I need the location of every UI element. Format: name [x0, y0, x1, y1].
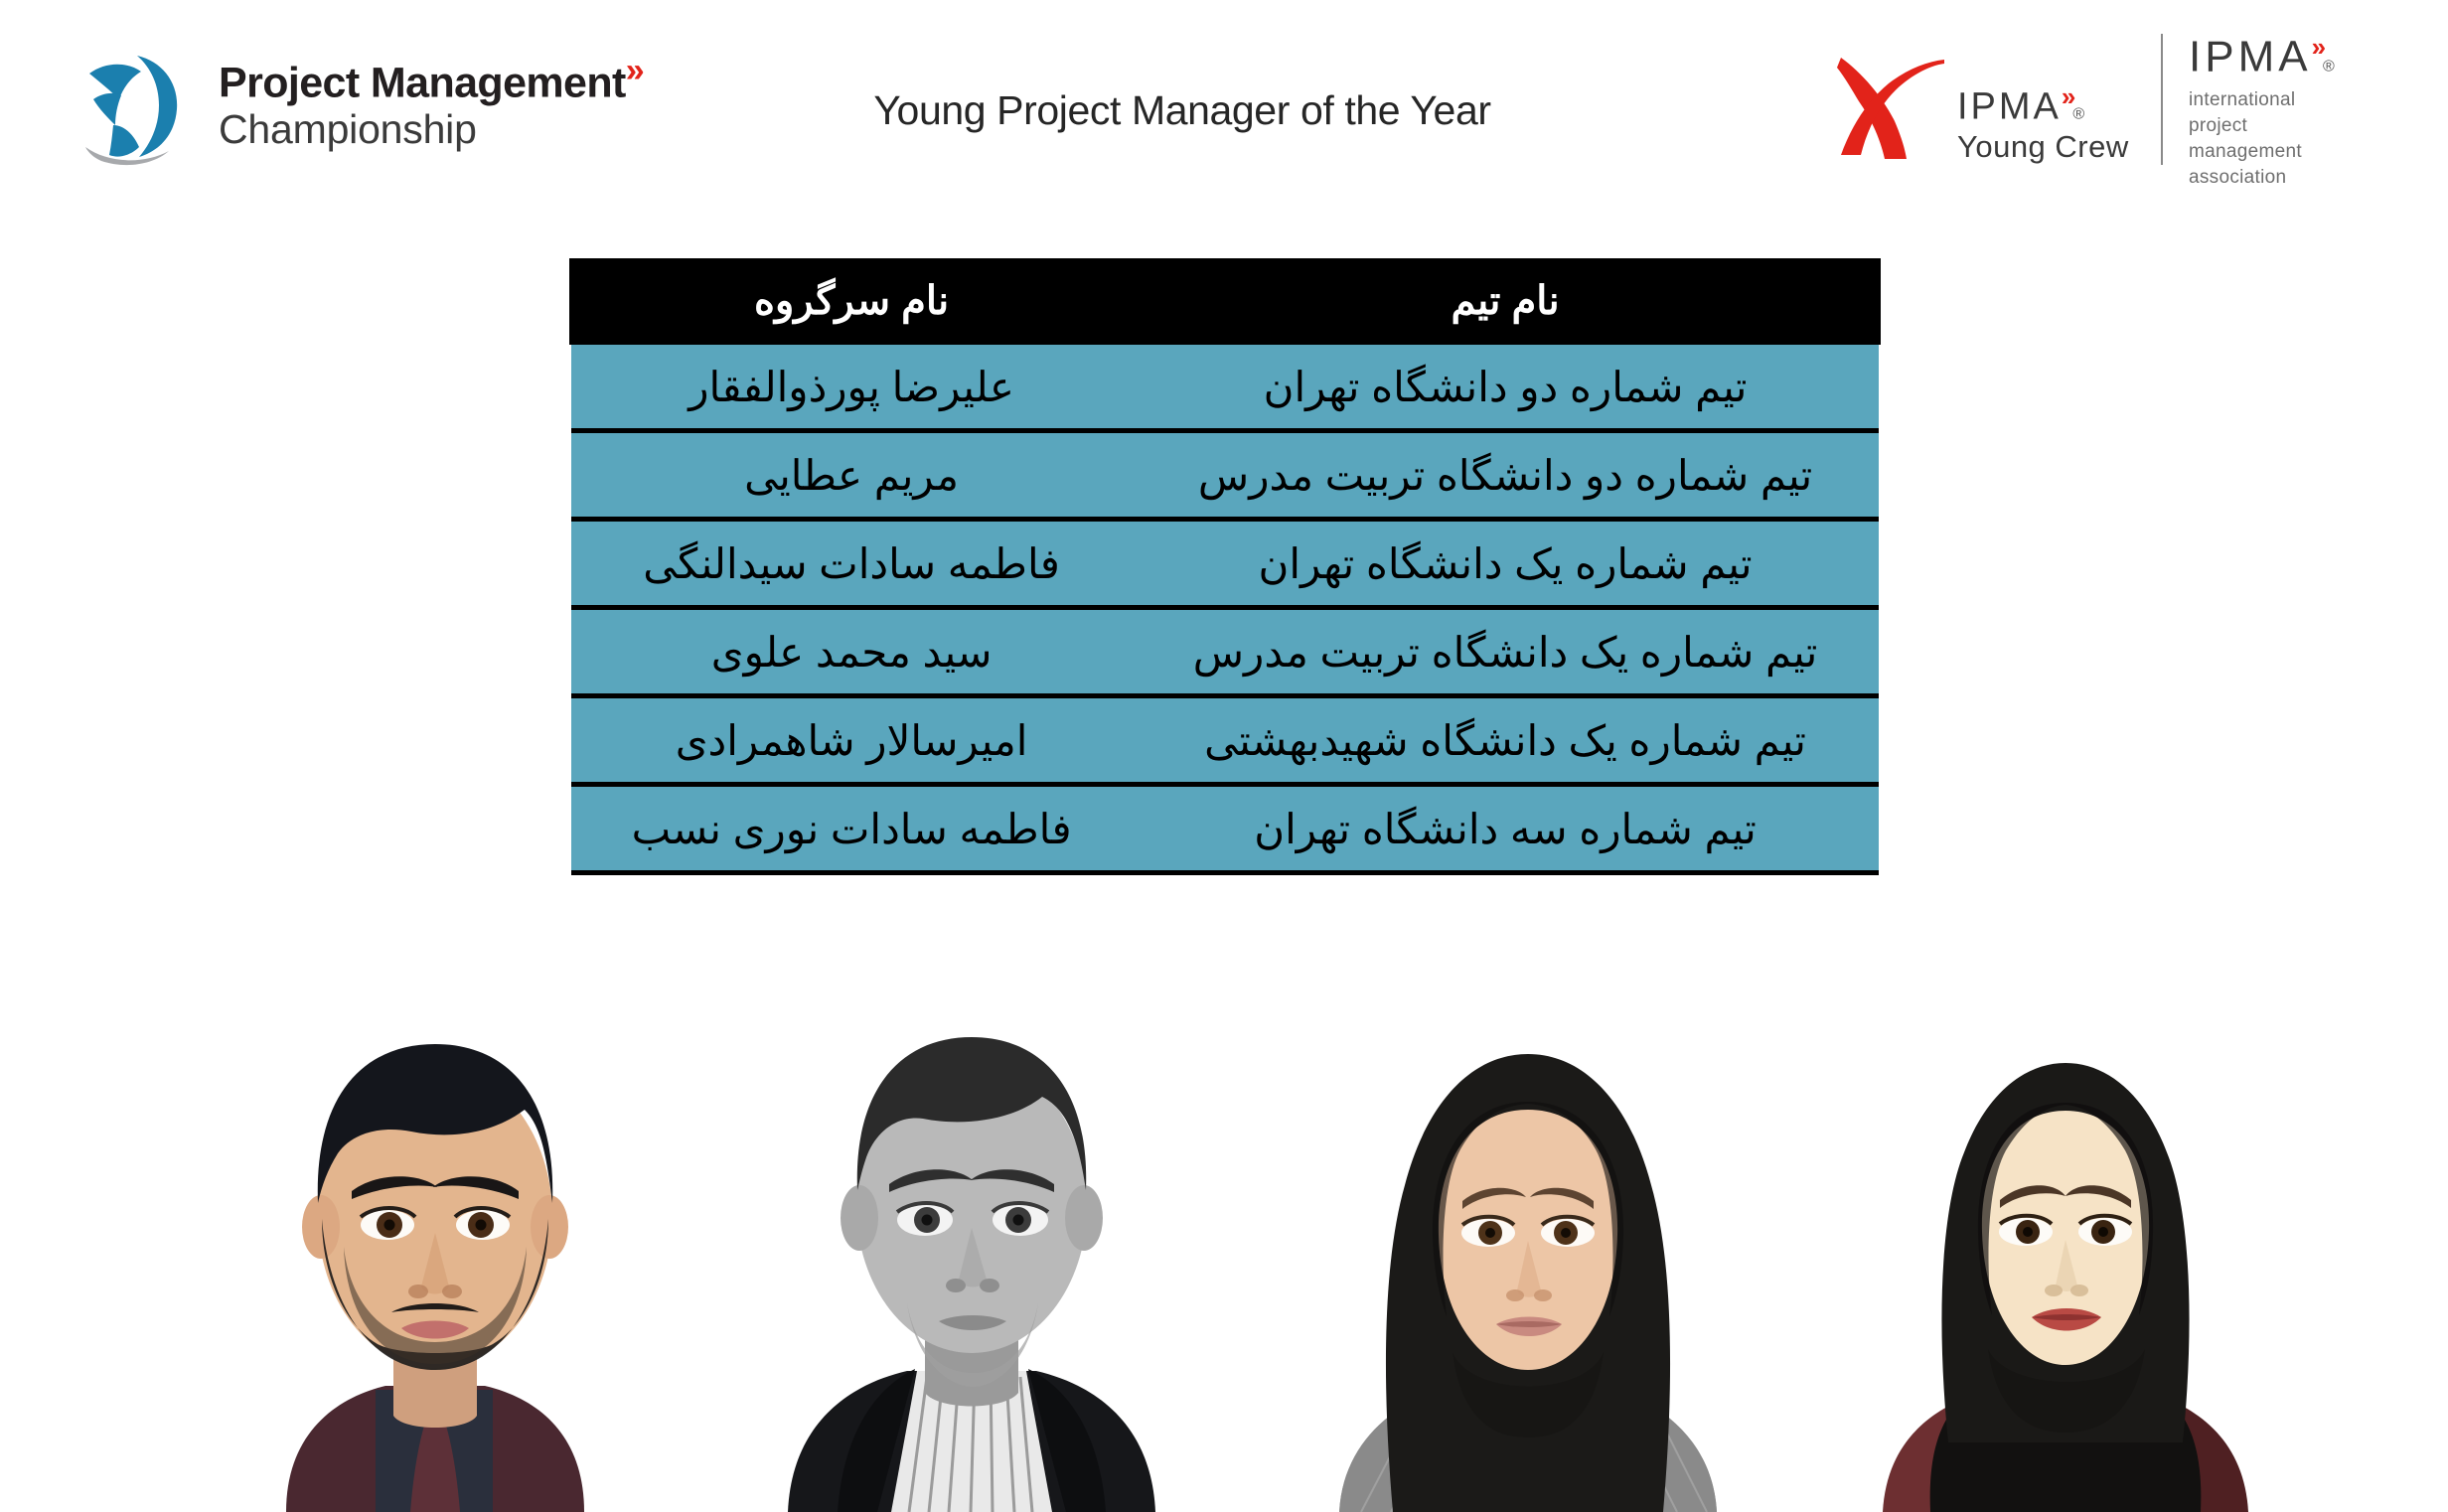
- ipma-young-crew-x-icon: [1833, 44, 1952, 163]
- ipma-tagline: international project management associa…: [2189, 87, 2407, 192]
- table-row: تیم شماره دو دانشگاه تربیت مدرسمریم عطای…: [571, 431, 1879, 520]
- pmc-wordmark: Project Management» Championship: [219, 54, 656, 151]
- cell-leader: مریم عطایی: [571, 431, 1132, 520]
- table-row: تیم شماره سه دانشگاه تهرانفاطمه سادات نو…: [571, 785, 1879, 873]
- ipma-main-wordmark: IPMA»® international project management …: [2189, 34, 2407, 192]
- portrait-3-image: [1321, 971, 1734, 1512]
- table-row: تیم شماره یک دانشگاه تهرانفاطمه سادات سی…: [571, 520, 1879, 608]
- portrait-4-image: [1861, 976, 2270, 1512]
- registered-mark-icon: ®: [2323, 59, 2335, 76]
- ipma-word-main: IPMA»®: [2189, 34, 2407, 79]
- ipma-chevron-icon: »: [2312, 32, 2323, 62]
- page-title: Young Project Manager of the Year: [815, 87, 1550, 134]
- ipma-tagline-line: project: [2189, 113, 2407, 139]
- cell-leader: امیرسالار شاهمرادی: [571, 696, 1132, 785]
- cell-leader: علیرضا پورذوالفقار: [571, 343, 1132, 431]
- column-header-leader-name: نام سرگروه: [571, 260, 1132, 343]
- cell-team: تیم شماره دو دانشگاه تربیت مدرس: [1132, 431, 1879, 520]
- cell-team: تیم شماره دو دانشگاه تهران: [1132, 343, 1879, 431]
- cell-team: تیم شماره یک دانشگاه تهران: [1132, 520, 1879, 608]
- portrait-1: [227, 949, 644, 1512]
- pmc-chevron-icon: »: [626, 52, 641, 89]
- cell-leader: سید محمد علوی: [571, 608, 1132, 696]
- ipma-logo-group: IPMA»® Young Crew IPMA»® international p…: [1833, 26, 2389, 175]
- table-header: نام تیم نام سرگروه: [571, 260, 1879, 343]
- ipma-word-young-crew: IPMA»®: [1957, 83, 2146, 126]
- portrait-1-image: [227, 949, 644, 1512]
- pmc-line-1: Project Management»: [219, 54, 656, 105]
- portrait-3: [1321, 971, 1734, 1512]
- portraits-row: [0, 949, 2448, 1512]
- portrait-2-image: [768, 976, 1175, 1512]
- table-header-row: نام تیم نام سرگروه: [571, 260, 1879, 343]
- table-row: تیم شماره یک دانشگاه تربیت مدرسسید محمد …: [571, 608, 1879, 696]
- cell-leader: فاطمه سادات نوری نسب: [571, 785, 1132, 873]
- pmc-bird-mark: [68, 48, 203, 167]
- ipma-tagline-line: international: [2189, 87, 2407, 113]
- cell-leader: فاطمه سادات سیدالنگی: [571, 520, 1132, 608]
- teams-table: نام تیم نام سرگروه تیم شماره دو دانشگاه …: [569, 258, 1881, 875]
- cell-team: تیم شماره یک دانشگاه تربیت مدرس: [1132, 608, 1879, 696]
- registered-mark-icon: ®: [2072, 106, 2084, 123]
- column-header-team-name: نام تیم: [1132, 260, 1879, 343]
- ipma-tagline-line: association: [2189, 165, 2407, 191]
- ipma-young-crew-wordmark: IPMA»® Young Crew: [1957, 83, 2146, 164]
- portrait-4: [1861, 976, 2270, 1512]
- ipma-chevron-icon: »: [2062, 81, 2072, 111]
- ipma-tagline-line: management: [2189, 139, 2407, 165]
- cell-team: تیم شماره سه دانشگاه تهران: [1132, 785, 1879, 873]
- project-management-championship-logo: Project Management» Championship: [68, 48, 664, 167]
- cell-team: تیم شماره یک دانشگاه شهیدبهشتی: [1132, 696, 1879, 785]
- logo-divider: [2161, 34, 2163, 165]
- table-body: تیم شماره دو دانشگاه تهرانعلیرضا پورذوال…: [571, 343, 1879, 873]
- pmc-line-2: Championship: [219, 107, 656, 151]
- table-row: تیم شماره دو دانشگاه تهرانعلیرضا پورذوال…: [571, 343, 1879, 431]
- portrait-2: [768, 976, 1175, 1512]
- ipma-young-crew-subtitle: Young Crew: [1957, 130, 2146, 165]
- table-row: تیم شماره یک دانشگاه شهیدبهشتیامیرسالار …: [571, 696, 1879, 785]
- slide-header: Project Management» Championship Young P…: [0, 0, 2448, 228]
